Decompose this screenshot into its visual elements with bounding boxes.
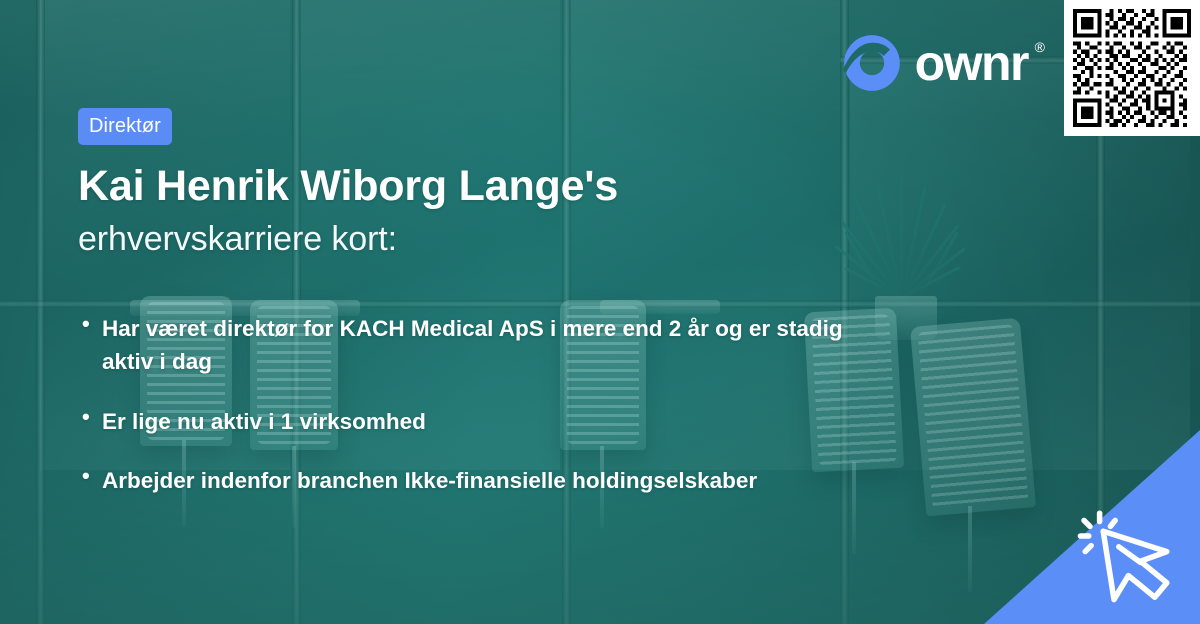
list-item-label: Er lige nu aktiv i 1 virksomhed [102, 405, 862, 438]
bullet-icon: • [82, 312, 102, 379]
ownr-logo-mark-icon [843, 34, 901, 92]
qr-code[interactable] [1064, 0, 1200, 136]
list-item: • Er lige nu aktiv i 1 virksomhed [82, 405, 982, 438]
bullet-icon: • [82, 405, 102, 438]
career-facts-list: • Har været direktør for KACH Medical Ap… [82, 312, 982, 497]
list-item: • Har været direktør for KACH Medical Ap… [82, 312, 982, 379]
role-badge: Direktør [78, 108, 172, 145]
list-item-label: Har været direktør for KACH Medical ApS … [102, 312, 862, 379]
business-career-card: Direktør Kai Henrik Wiborg Lange's erhve… [0, 0, 1200, 624]
ownr-wordmark-text: ownr [915, 35, 1028, 91]
card-content: Direktør Kai Henrik Wiborg Lange's erhve… [78, 108, 958, 258]
list-item-label: Arbejder indenfor branchen Ikke-finansie… [102, 464, 862, 497]
bullet-icon: • [82, 464, 102, 497]
page-subtitle: erhvervskarriere kort: [78, 222, 958, 258]
list-item: • Arbejder indenfor branchen Ikke-finans… [82, 464, 982, 497]
registered-trademark-icon: ® [1035, 40, 1045, 54]
ownr-wordmark: ownr® [915, 38, 1028, 88]
qr-code-image [1073, 9, 1191, 127]
ownr-logo[interactable]: ownr® [843, 34, 1028, 92]
page-title: Kai Henrik Wiborg Lange's [78, 165, 958, 208]
